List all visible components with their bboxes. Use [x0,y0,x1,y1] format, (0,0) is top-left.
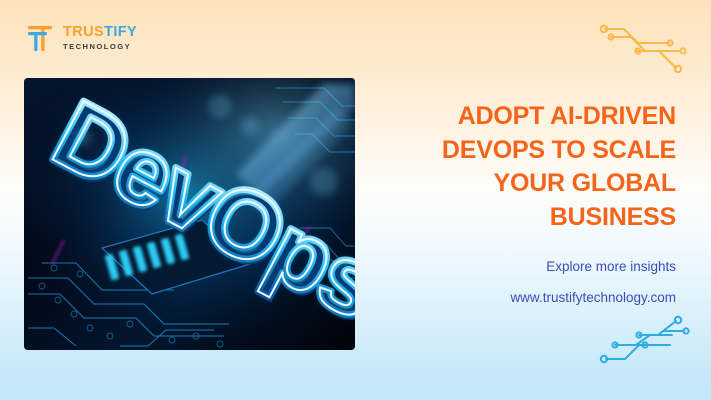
brand-tagline: TECHNOLOGY [63,43,137,51]
circuit-trace-icon-bottom [598,313,698,373]
copy-block: ADOPT AI-DRIVEN DEVOPS TO SCALE YOUR GLO… [376,100,676,304]
brand-name-second: TIFY [104,24,137,40]
trustify-t-monogram-icon [26,22,56,54]
brand-name-first: TRUS [63,24,104,40]
circuit-trace-icon-top [598,23,698,78]
page-title: ADOPT AI-DRIVEN DEVOPS TO SCALE YOUR GLO… [376,100,676,234]
brand-name: TRUSTIFY [63,25,137,40]
cta-text: Explore more insights [376,260,676,274]
website-link[interactable]: www.trustifytechnology.com [376,291,676,305]
brand-logo[interactable]: TRUSTIFY TECHNOLOGY [26,22,137,54]
brand-wordmark: TRUSTIFY TECHNOLOGY [63,25,137,51]
cta-block: Explore more insights www.trustifytechno… [376,260,676,304]
devops-circuit-image: DevOps DevOps DevOps DevOps [24,78,355,350]
